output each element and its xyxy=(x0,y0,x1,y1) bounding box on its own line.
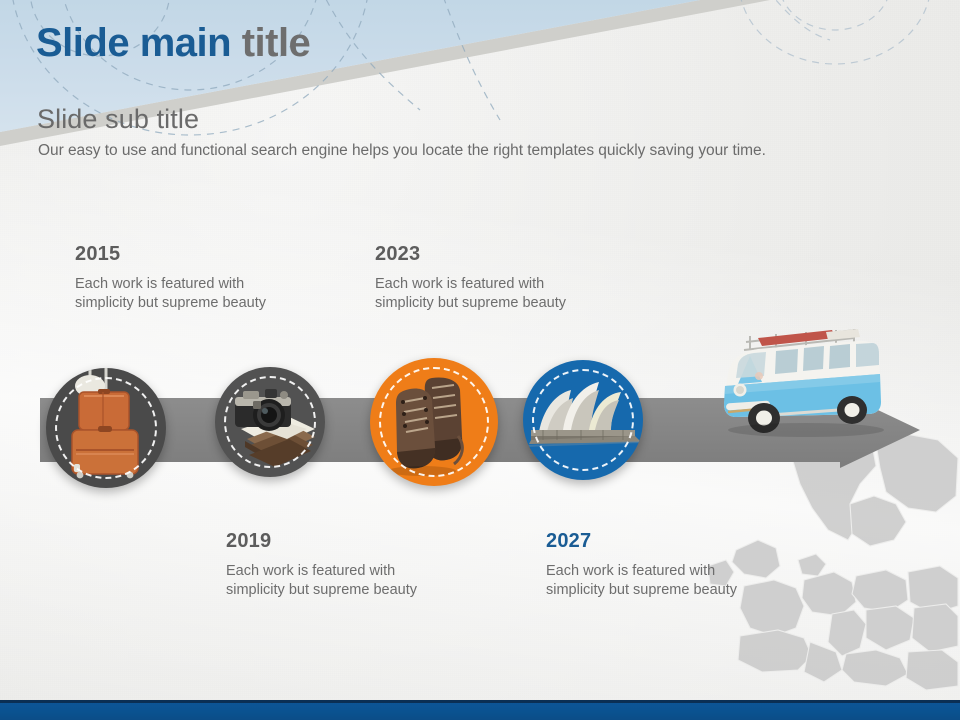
caption-2015: 2015 Each work is featured with simplici… xyxy=(75,243,325,313)
node-dashed-ring xyxy=(532,369,634,471)
title-sub: title xyxy=(242,21,311,65)
caption-year: 2023 xyxy=(375,243,625,266)
timeline-node-2015[interactable] xyxy=(46,368,166,488)
timeline-node-2027[interactable] xyxy=(523,360,643,480)
title-main: Slide main xyxy=(36,21,231,65)
timeline-node-2019[interactable] xyxy=(215,367,325,477)
page-title: Slide main title xyxy=(36,22,310,64)
node-dashed-ring xyxy=(224,376,316,468)
caption-text: Each work is featured with simplicity bu… xyxy=(375,275,625,313)
caption-year: 2015 xyxy=(75,243,325,266)
slide-description: Our easy to use and functional search en… xyxy=(38,142,766,160)
timeline-node-2023[interactable] xyxy=(370,358,498,486)
caption-text: Each work is featured with simplicity bu… xyxy=(226,562,476,600)
caption-2027: 2027 Each work is featured with simplici… xyxy=(546,530,796,600)
caption-year: 2019 xyxy=(226,530,476,553)
slide-sub-title: Slide sub title xyxy=(37,104,199,135)
caption-text: Each work is featured with simplicity bu… xyxy=(546,562,796,600)
camper-van-icon xyxy=(706,316,896,446)
caption-2023: 2023 Each work is featured with simplici… xyxy=(375,243,625,313)
caption-text: Each work is featured with simplicity bu… xyxy=(75,275,325,313)
footer-bar xyxy=(0,700,960,720)
caption-2019: 2019 Each work is featured with simplici… xyxy=(226,530,476,600)
caption-year: 2027 xyxy=(546,530,796,553)
node-dashed-ring xyxy=(55,377,157,479)
slide-canvas: Slide main title Slide sub title Our eas… xyxy=(0,0,960,720)
node-dashed-ring xyxy=(379,367,489,477)
